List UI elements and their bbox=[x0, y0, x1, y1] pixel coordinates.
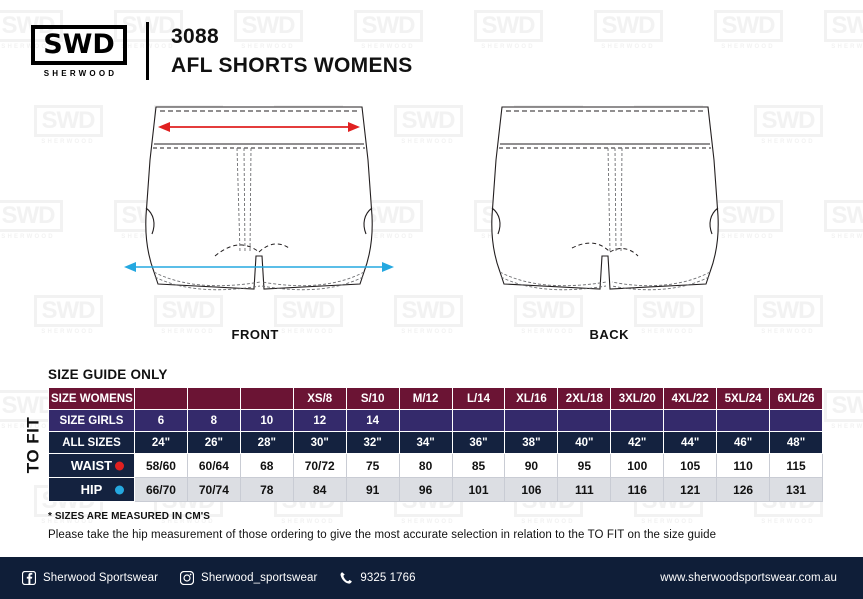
row-label-waist: WAIST bbox=[49, 454, 135, 478]
cell-size-girls: 14 bbox=[346, 410, 399, 432]
cell-waist: 95 bbox=[558, 454, 611, 478]
back-shorts-drawing bbox=[460, 96, 750, 326]
cell-size-womens: 3XL/20 bbox=[611, 388, 664, 410]
cell-hip: 84 bbox=[293, 478, 346, 502]
cell-size-womens bbox=[187, 388, 240, 410]
page-title: AFL SHORTS WOMENS bbox=[171, 53, 413, 79]
notes-block: * SIZES ARE MEASURED IN CM'S Please take… bbox=[0, 502, 863, 541]
table-row-size-girls: SIZE GIRLS 68101214 bbox=[49, 410, 823, 432]
hip-color-dot bbox=[115, 485, 124, 494]
cell-waist: 68 bbox=[240, 454, 293, 478]
back-label: BACK bbox=[460, 327, 750, 342]
phone-icon bbox=[339, 571, 353, 585]
instagram-label: Sherwood_sportswear bbox=[201, 572, 317, 584]
cell-size-womens: 6XL/26 bbox=[770, 388, 823, 410]
cell-waist: 90 bbox=[505, 454, 558, 478]
size-table-zone: TO FIT SIZE WOMENS XS/8S/10M/12L/14XL/16… bbox=[0, 387, 863, 502]
cell-all-sizes: 48" bbox=[770, 432, 823, 454]
facebook-label: Sherwood Sportswear bbox=[43, 572, 158, 584]
page-footer: Sherwood Sportswear Sherwood_sportswear bbox=[0, 557, 863, 599]
cell-waist: 58/60 bbox=[135, 454, 188, 478]
hip-label-text: HIP bbox=[81, 482, 103, 497]
waist-label-text: WAIST bbox=[71, 458, 112, 473]
cell-size-womens: XL/16 bbox=[505, 388, 558, 410]
cell-size-womens: L/14 bbox=[452, 388, 505, 410]
waist-color-dot bbox=[115, 461, 124, 470]
garment-front: FRONT bbox=[114, 96, 404, 367]
table-row-size-womens: SIZE WOMENS XS/8S/10M/12L/14XL/162XL/183… bbox=[49, 388, 823, 410]
cell-hip: 96 bbox=[399, 478, 452, 502]
phone-label: 9325 1766 bbox=[360, 572, 415, 584]
row-label-size-womens: SIZE WOMENS bbox=[49, 388, 135, 410]
cell-size-girls bbox=[664, 410, 717, 432]
garment-back: BACK bbox=[460, 96, 750, 367]
page-header: SWD SHERWOOD 3088 AFL SHORTS WOMENS bbox=[0, 0, 863, 92]
instagram-icon bbox=[180, 571, 194, 585]
table-row-hip: HIP 66/7070/7478849196101106111116121126… bbox=[49, 478, 823, 502]
cell-all-sizes: 24" bbox=[135, 432, 188, 454]
logo-mark-text: SWD bbox=[31, 25, 127, 65]
facebook-icon bbox=[22, 571, 36, 585]
cell-hip: 106 bbox=[505, 478, 558, 502]
cell-all-sizes: 26" bbox=[187, 432, 240, 454]
note-measurement-units: * SIZES ARE MEASURED IN CM'S bbox=[48, 511, 863, 522]
cell-hip: 70/74 bbox=[187, 478, 240, 502]
cell-hip: 66/70 bbox=[135, 478, 188, 502]
cell-all-sizes: 34" bbox=[399, 432, 452, 454]
cell-size-girls: 6 bbox=[135, 410, 188, 432]
footer-contact-group: Sherwood Sportswear Sherwood_sportswear bbox=[22, 571, 416, 585]
cell-all-sizes: 30" bbox=[293, 432, 346, 454]
brand-logo: SWD SHERWOOD bbox=[36, 25, 122, 78]
size-guide-heading: SIZE GUIDE ONLY bbox=[0, 367, 863, 382]
cell-all-sizes: 28" bbox=[240, 432, 293, 454]
cell-size-girls bbox=[505, 410, 558, 432]
cell-size-womens: XS/8 bbox=[293, 388, 346, 410]
cell-hip: 126 bbox=[717, 478, 770, 502]
cell-all-sizes: 42" bbox=[611, 432, 664, 454]
cell-waist: 60/64 bbox=[187, 454, 240, 478]
cell-hip: 101 bbox=[452, 478, 505, 502]
cell-size-girls bbox=[558, 410, 611, 432]
cell-waist: 75 bbox=[346, 454, 399, 478]
cell-size-womens: 4XL/22 bbox=[664, 388, 717, 410]
cell-hip: 116 bbox=[611, 478, 664, 502]
table-row-waist: WAIST 58/6060/646870/7275808590951001051… bbox=[49, 454, 823, 478]
cell-size-girls: 12 bbox=[293, 410, 346, 432]
cell-waist: 80 bbox=[399, 454, 452, 478]
cell-size-girls: 10 bbox=[240, 410, 293, 432]
cell-all-sizes: 32" bbox=[346, 432, 399, 454]
cell-size-womens: S/10 bbox=[346, 388, 399, 410]
cell-waist: 115 bbox=[770, 454, 823, 478]
cell-size-womens bbox=[135, 388, 188, 410]
cell-hip: 78 bbox=[240, 478, 293, 502]
row-label-hip: HIP bbox=[49, 478, 135, 502]
cell-all-sizes: 46" bbox=[717, 432, 770, 454]
cell-size-girls bbox=[611, 410, 664, 432]
to-fit-text: TO FIT bbox=[23, 416, 43, 473]
product-code: 3088 bbox=[171, 24, 413, 50]
row-label-all-sizes: ALL SIZES bbox=[49, 432, 135, 454]
cell-hip: 131 bbox=[770, 478, 823, 502]
footer-instagram[interactable]: Sherwood_sportswear bbox=[180, 571, 317, 585]
front-label: FRONT bbox=[114, 327, 404, 342]
cell-waist: 70/72 bbox=[293, 454, 346, 478]
footer-facebook[interactable]: Sherwood Sportswear bbox=[22, 571, 158, 585]
cell-hip: 111 bbox=[558, 478, 611, 502]
cell-waist: 85 bbox=[452, 454, 505, 478]
to-fit-label: TO FIT bbox=[18, 387, 48, 502]
garment-illustrations: FRONT bbox=[0, 92, 863, 367]
cell-size-womens: 5XL/24 bbox=[717, 388, 770, 410]
table-row-all-sizes: ALL SIZES 24"26"28"30"32"34"36"38"40"42"… bbox=[49, 432, 823, 454]
cell-hip: 121 bbox=[664, 478, 717, 502]
cell-size-girls bbox=[770, 410, 823, 432]
header-text-block: 3088 AFL SHORTS WOMENS bbox=[171, 24, 413, 79]
logo-sub-text: SHERWOOD bbox=[41, 69, 117, 78]
cell-all-sizes: 40" bbox=[558, 432, 611, 454]
cell-size-girls bbox=[452, 410, 505, 432]
footer-phone[interactable]: 9325 1766 bbox=[339, 571, 415, 585]
note-hip-measurement: Please take the hip measurement of those… bbox=[48, 529, 863, 541]
cell-size-girls bbox=[717, 410, 770, 432]
cell-hip: 91 bbox=[346, 478, 399, 502]
cell-size-girls: 8 bbox=[187, 410, 240, 432]
size-guide-table: SIZE WOMENS XS/8S/10M/12L/14XL/162XL/183… bbox=[48, 387, 823, 502]
cell-size-womens: 2XL/18 bbox=[558, 388, 611, 410]
header-divider bbox=[146, 22, 149, 80]
front-shorts-drawing bbox=[114, 96, 404, 326]
cell-size-womens: M/12 bbox=[399, 388, 452, 410]
cell-waist: 105 bbox=[664, 454, 717, 478]
row-label-size-girls: SIZE GIRLS bbox=[49, 410, 135, 432]
cell-waist: 110 bbox=[717, 454, 770, 478]
cell-all-sizes: 38" bbox=[505, 432, 558, 454]
cell-all-sizes: 36" bbox=[452, 432, 505, 454]
cell-size-womens bbox=[240, 388, 293, 410]
cell-waist: 100 bbox=[611, 454, 664, 478]
cell-size-girls bbox=[399, 410, 452, 432]
footer-website[interactable]: www.sherwoodsportswear.com.au bbox=[660, 572, 837, 584]
size-chart-page: SWD SHERWOOD 3088 AFL SHORTS WOMENS bbox=[0, 0, 863, 599]
cell-all-sizes: 44" bbox=[664, 432, 717, 454]
